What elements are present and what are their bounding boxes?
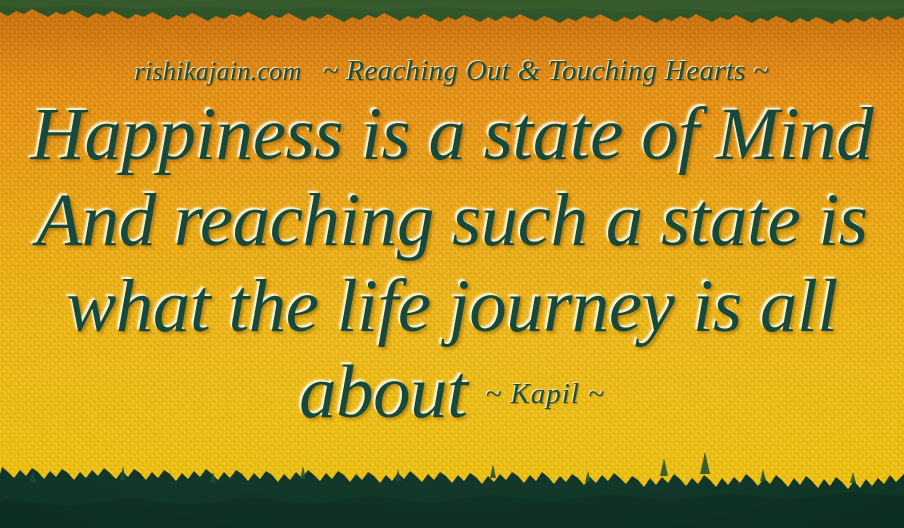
site-domain: rishikajain.com — [135, 57, 302, 86]
quote-line-4-text: about — [299, 351, 467, 434]
quote-block: Happiness is a state of Mind And reachin… — [0, 92, 904, 437]
quote-line-4: about~ Kapil ~ — [0, 350, 904, 437]
quote-line-3: what the life journey is all — [0, 264, 904, 350]
site-tagline: ~ Reaching Out & Touching Hearts ~ — [323, 55, 770, 87]
poster-content: rishikajain.com ~ Reaching Out & Touchin… — [0, 0, 904, 528]
quote-line-1: Happiness is a state of Mind — [0, 92, 904, 178]
quote-poster: rishikajain.com ~ Reaching Out & Touchin… — [0, 0, 904, 528]
attribution: ~ Kapil ~ — [468, 378, 605, 410]
site-credit: rishikajain.com ~ Reaching Out & Touchin… — [135, 57, 770, 86]
quote-line-2: And reaching such a state is — [0, 178, 904, 264]
